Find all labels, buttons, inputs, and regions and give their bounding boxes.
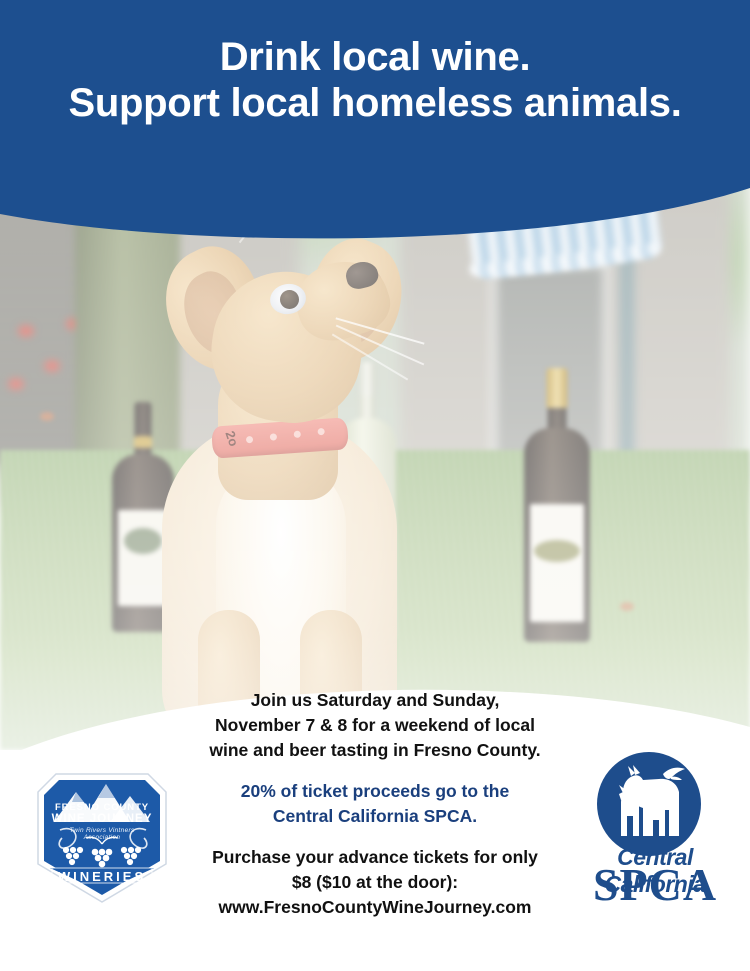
- wine-journey-subline-1: Twin Rivers Vintners: [26, 827, 178, 834]
- proceeds-line-2: Central California SPCA.: [165, 804, 585, 829]
- dog-pupil: [280, 290, 299, 309]
- event-date-line-3: wine and beer tasting in Fresno County.: [165, 738, 585, 763]
- wine-journey-line-1: FRESNO COUNTY: [26, 802, 178, 813]
- spca-animals-circle-icon: [597, 752, 701, 856]
- page-title: Drink local wine. Support local homeless…: [0, 34, 750, 126]
- red-flower: [8, 378, 24, 390]
- event-date-line-1: Join us Saturday and Sunday,: [165, 688, 585, 713]
- spca-acronym: SPCA: [565, 862, 745, 908]
- dog-chihuahua: 2o: [120, 210, 480, 750]
- fresno-wine-journey-logo[interactable]: FRESNO COUNTY WINE JOURNEY Twin Rivers V…: [26, 758, 178, 910]
- red-flower: [18, 325, 34, 337]
- headline-line-2: Support local homeless animals.: [0, 80, 750, 126]
- copy-spacer: [165, 763, 585, 779]
- event-copy: Join us Saturday and Sunday, November 7 …: [165, 688, 585, 920]
- copy-spacer: [165, 829, 585, 845]
- tickets-line-1: Purchase your advance tickets for only: [165, 845, 585, 870]
- wine-journey-line-2: WINE JOURNEY: [26, 813, 178, 825]
- tickets-line-2: $8 ($10 at the door):: [165, 870, 585, 895]
- website-url[interactable]: www.FresnoCountyWineJourney.com: [165, 895, 585, 920]
- red-flower: [44, 360, 60, 372]
- headline-line-1: Drink local wine.: [0, 34, 750, 80]
- wine-bottle-right: [524, 368, 590, 642]
- proceeds-line-1: 20% of ticket proceeds go to the: [165, 779, 585, 804]
- fallen-leaf: [40, 412, 54, 421]
- fallen-leaf: [620, 602, 634, 611]
- wine-journey-wineries-label: WINERIES: [26, 869, 178, 884]
- poster-root: 2o: [0, 0, 750, 971]
- central-california-spca-logo[interactable]: Central California SPCA: [565, 752, 745, 900]
- wine-journey-subline-2: Association: [26, 834, 178, 841]
- event-date-line-2: November 7 & 8 for a weekend of local: [165, 713, 585, 738]
- poster-header: Drink local wine. Support local homeless…: [0, 0, 750, 260]
